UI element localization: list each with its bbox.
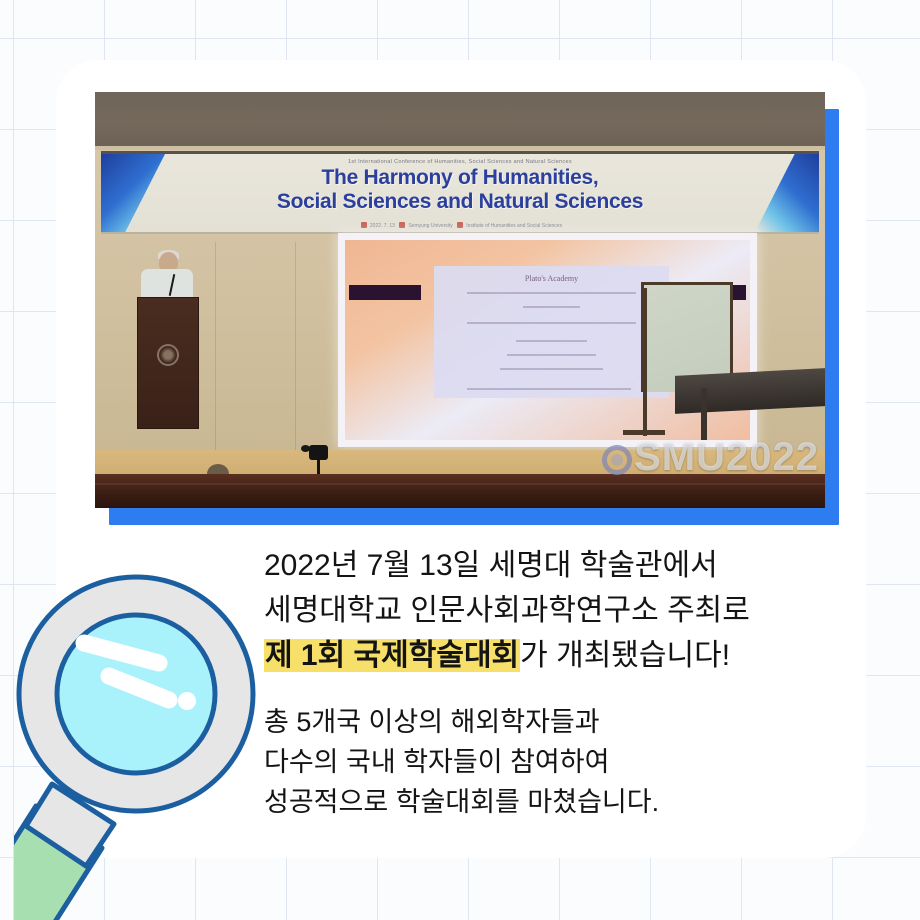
slide-text-line — [500, 368, 603, 370]
banner-title-line1: The Harmony of Humanities, — [101, 166, 819, 190]
banner-superline: 1st International Conference of Humaniti… — [101, 159, 819, 165]
slide-text-line — [507, 354, 596, 356]
banner-footline-2: Semyung University — [408, 223, 452, 229]
stage-floor — [95, 450, 825, 476]
paragraph-2: 총 5개국 이상의 해외학자들과 다수의 국내 학자들이 참여하여 성공적으로 … — [264, 702, 844, 822]
slide-title: Plato's Academy — [434, 274, 669, 283]
paragraph-1-line-3: 제 1회 국제학술대회가 개최됐습니다! — [264, 633, 844, 678]
slide-text-line — [516, 340, 586, 342]
banner-bullet-icon — [399, 222, 405, 228]
banner-footline-1: 2022. 7. 13 — [370, 223, 395, 229]
page-background: 1st International Conference of Humaniti… — [0, 0, 920, 920]
conference-banner: 1st International Conference of Humaniti… — [101, 151, 819, 234]
highlighted-event-name: 제 1회 국제학술대회 — [264, 639, 520, 672]
wall-seam — [755, 242, 756, 450]
magnifier-svg — [14, 548, 284, 920]
wall-seam — [295, 242, 296, 450]
banner-title: The Harmony of Humanities, Social Scienc… — [101, 166, 819, 214]
slide-text-line — [467, 322, 636, 324]
slide-text-line — [523, 306, 579, 308]
banner-footline: 2022. 7. 13 Semyung University Institute… — [101, 222, 819, 229]
screen-dark-bar — [349, 285, 421, 300]
podium-emblem-icon — [157, 344, 179, 366]
slide-text-line — [467, 292, 636, 294]
banner-bullet-icon — [361, 222, 367, 228]
podium — [137, 297, 199, 429]
conference-photo: 1st International Conference of Humaniti… — [95, 92, 825, 508]
banner-title-line2: Social Sciences and Natural Sciences — [101, 190, 819, 214]
auditorium-ceiling — [95, 92, 825, 150]
paragraph-1: 2022년 7월 13일 세명대 학술관에서 세명대학교 인문사회과학연구소 주… — [264, 543, 844, 678]
stage-table-leg — [701, 388, 707, 440]
slide-text-line — [467, 388, 631, 390]
wall-seam — [215, 242, 216, 450]
paragraph-2-line-2: 다수의 국내 학자들이 참여하여 — [264, 742, 844, 782]
paragraph-1-line-1: 2022년 7월 13일 세명대 학술관에서 — [264, 543, 844, 588]
paragraph-1-line-3-tail: 가 개최됐습니다! — [520, 639, 730, 672]
banner-footline-3: Institute of Humanities and Social Scien… — [466, 223, 562, 229]
presentation-slide: Plato's Academy — [434, 266, 669, 398]
whiteboard-foot — [623, 430, 665, 435]
caption-text-block: 2022년 7월 13일 세명대 학술관에서 세명대학교 인문사회과학연구소 주… — [264, 543, 844, 822]
stage-table — [675, 368, 825, 414]
photo-image: 1st International Conference of Humaniti… — [95, 92, 825, 508]
paragraph-2-line-1: 총 5개국 이상의 해외학자들과 — [264, 702, 844, 742]
audience-seats — [95, 474, 825, 508]
whiteboard-leg — [643, 288, 647, 436]
magnifying-glass-icon — [14, 548, 284, 920]
paragraph-1-line-2: 세명대학교 인문사회과학연구소 주최로 — [264, 588, 844, 633]
paragraph-2-line-3: 성공적으로 학술대회를 마쳤습니다. — [264, 782, 844, 822]
banner-bullet-icon — [457, 222, 463, 228]
seat-row-line — [95, 483, 825, 485]
